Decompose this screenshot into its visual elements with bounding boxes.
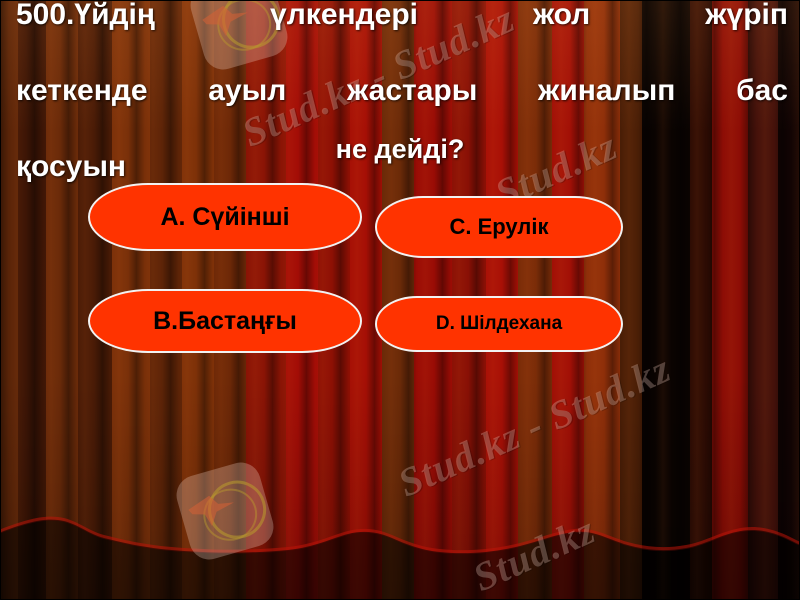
answer-option-b[interactable]: В.Бастаңғы: [88, 289, 362, 353]
question-line: 500.Үйдің үлкендері жол жүріп: [16, 0, 788, 72]
answer-option-a[interactable]: А. Сүйінші: [88, 183, 362, 251]
sub-question-text: не дейді?: [0, 134, 800, 165]
answer-option-d[interactable]: D. Шілдехана: [375, 296, 623, 352]
answer-option-c[interactable]: C. Ерулік: [375, 196, 623, 258]
slide-canvas: Stud.kz - Stud.kz Stud.kz Stud.kz - Stud…: [0, 0, 800, 600]
